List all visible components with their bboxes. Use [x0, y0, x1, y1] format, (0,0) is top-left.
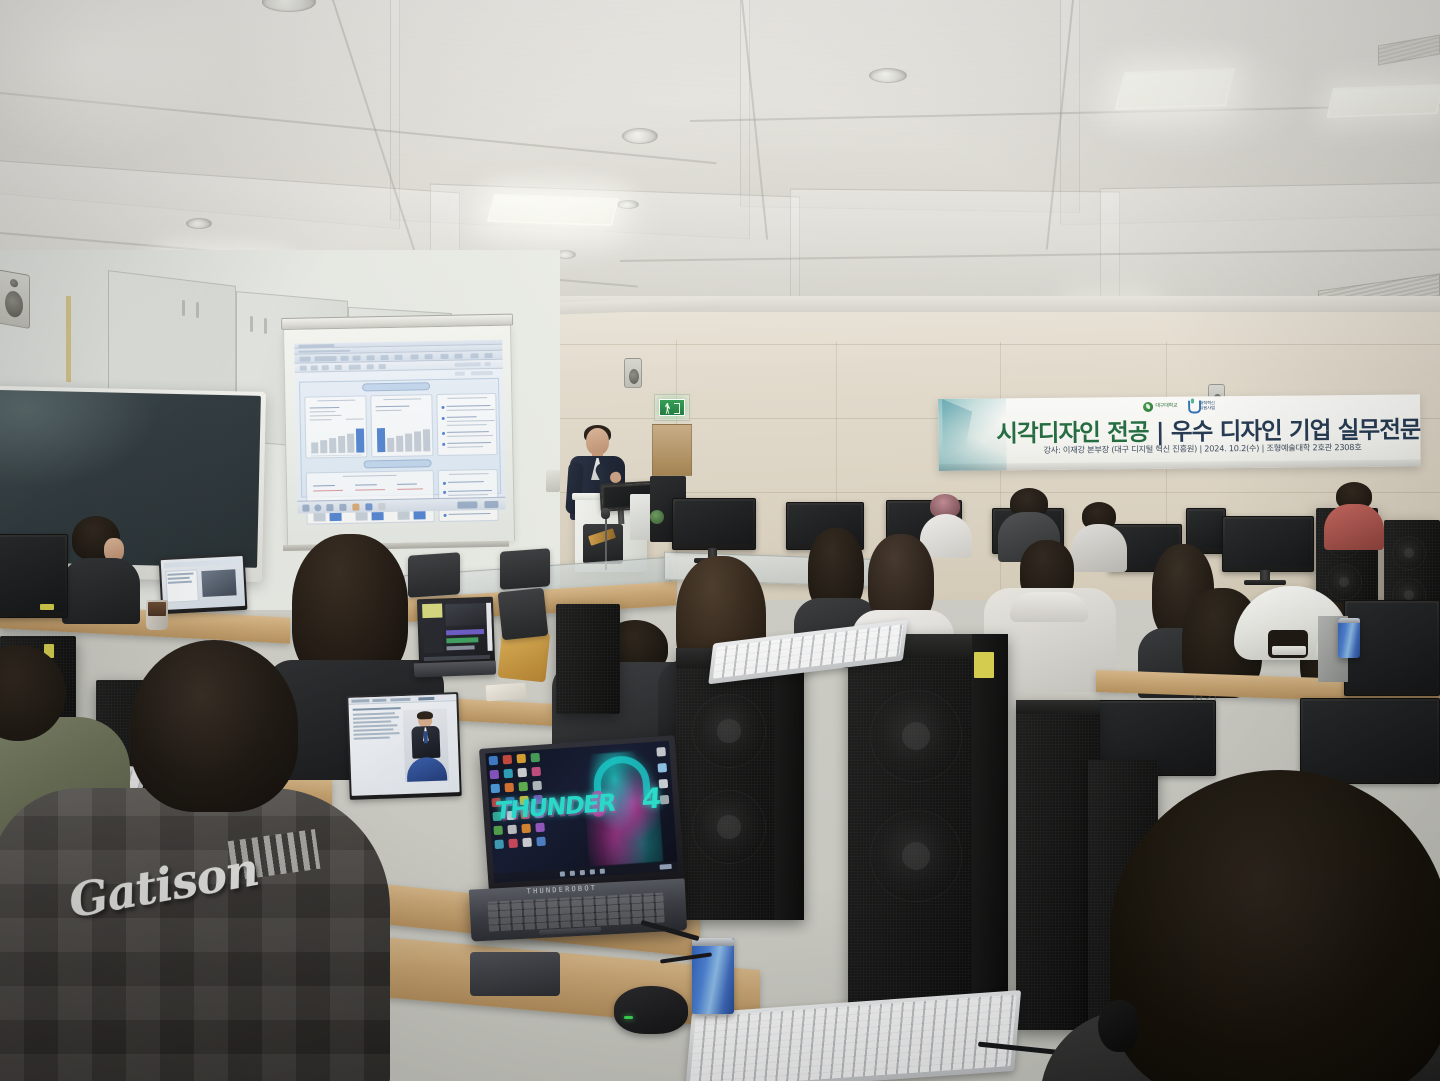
cabinet-handle[interactable] [182, 300, 185, 316]
banner-subtitle: 강사: 이재강 본부장 (대구 디지털 혁신 진흥원) | 2024. 10.2… [996, 440, 1408, 456]
mouse-led [624, 1016, 633, 1019]
innovation-u-icon [1188, 401, 1197, 412]
banner-title-separator: | [1156, 418, 1164, 446]
pc-tower [848, 634, 1008, 1034]
drink-can [1338, 618, 1360, 658]
innovation-logo-text: 대학혁신 지원사업 [1199, 401, 1214, 411]
drink-cup [146, 600, 168, 630]
daegu-university-logo: 대구대학교 [1143, 401, 1177, 411]
laptop-keyboard[interactable] [487, 893, 664, 932]
cabinet-handle[interactable] [196, 302, 199, 318]
smartboard-glare [0, 390, 161, 493]
door-icon [674, 403, 680, 414]
ceiling-panel-light [1326, 84, 1440, 118]
door[interactable] [652, 424, 692, 476]
desktop-monitor[interactable] [1222, 516, 1314, 572]
lecture-hall-photo: 대구대학교 대학혁신 지원사업 시각디자인 전공 | 우수 디자인 기업 실무전… [0, 0, 1440, 1081]
laptop-keyboard[interactable] [414, 661, 496, 678]
cabinet-handle[interactable] [250, 316, 253, 332]
recessed-ceiling-fixture [186, 218, 212, 229]
recessed-ceiling-fixture [617, 200, 639, 209]
laptop-screen[interactable]: THUNDER 4 [485, 741, 678, 884]
desktop-monitor[interactable] [0, 534, 68, 618]
laptop[interactable] [417, 597, 495, 666]
lectern-control-panel[interactable] [583, 524, 623, 564]
wall-speaker [0, 269, 30, 329]
checkered-jacket [0, 788, 390, 1081]
plant-decoration [650, 510, 664, 524]
wallpaper-number: 4 [640, 781, 662, 816]
drink-can [692, 938, 734, 1014]
person-foreground-right-head [1110, 770, 1440, 1081]
cap-strap-buckle [1272, 646, 1306, 655]
presentation-slide [294, 340, 505, 514]
hair [130, 640, 298, 812]
running-man-icon [665, 403, 670, 414]
university-emblem-icon [1143, 401, 1153, 411]
desktop-monitor[interactable] [1300, 698, 1440, 784]
ear [1098, 1000, 1138, 1052]
event-banner: 대구대학교 대학혁신 지원사업 시각디자인 전공 | 우수 디자인 기업 실무전… [938, 394, 1421, 471]
projection-screen [283, 326, 515, 545]
microphone[interactable] [601, 508, 610, 519]
emergency-exit-sign [659, 399, 685, 416]
pc-tower [676, 648, 804, 920]
ceiling-panel-light [487, 194, 619, 226]
gaming-mouse[interactable] [614, 986, 688, 1034]
cabinet-handle[interactable] [264, 318, 267, 334]
university-innovation-support-logo: 대학혁신 지원사업 [1188, 400, 1214, 411]
wall-speaker [624, 358, 642, 388]
laptop-cooling-pad [470, 952, 560, 996]
ceiling-panel-light [1115, 68, 1236, 110]
laptop[interactable] [159, 554, 248, 614]
laptop-base[interactable]: THUNDEROBOT [469, 878, 687, 941]
laptop-lid: THUNDER 4 [479, 735, 685, 898]
paper-stack [546, 470, 560, 492]
recessed-ceiling-fixture [622, 128, 658, 144]
chair[interactable] [498, 588, 549, 641]
chair[interactable] [500, 548, 550, 589]
chair[interactable] [408, 552, 460, 598]
recessed-ceiling-fixture [869, 68, 907, 83]
student-foreground-checkered-jacket: Gatison [0, 640, 410, 1081]
desktop-monitor[interactable] [672, 498, 756, 550]
notebook [485, 683, 526, 702]
daegu-university-logo-text: 대구대학교 [1155, 404, 1177, 409]
asset-tag [974, 652, 994, 678]
pc-tower [556, 604, 620, 714]
